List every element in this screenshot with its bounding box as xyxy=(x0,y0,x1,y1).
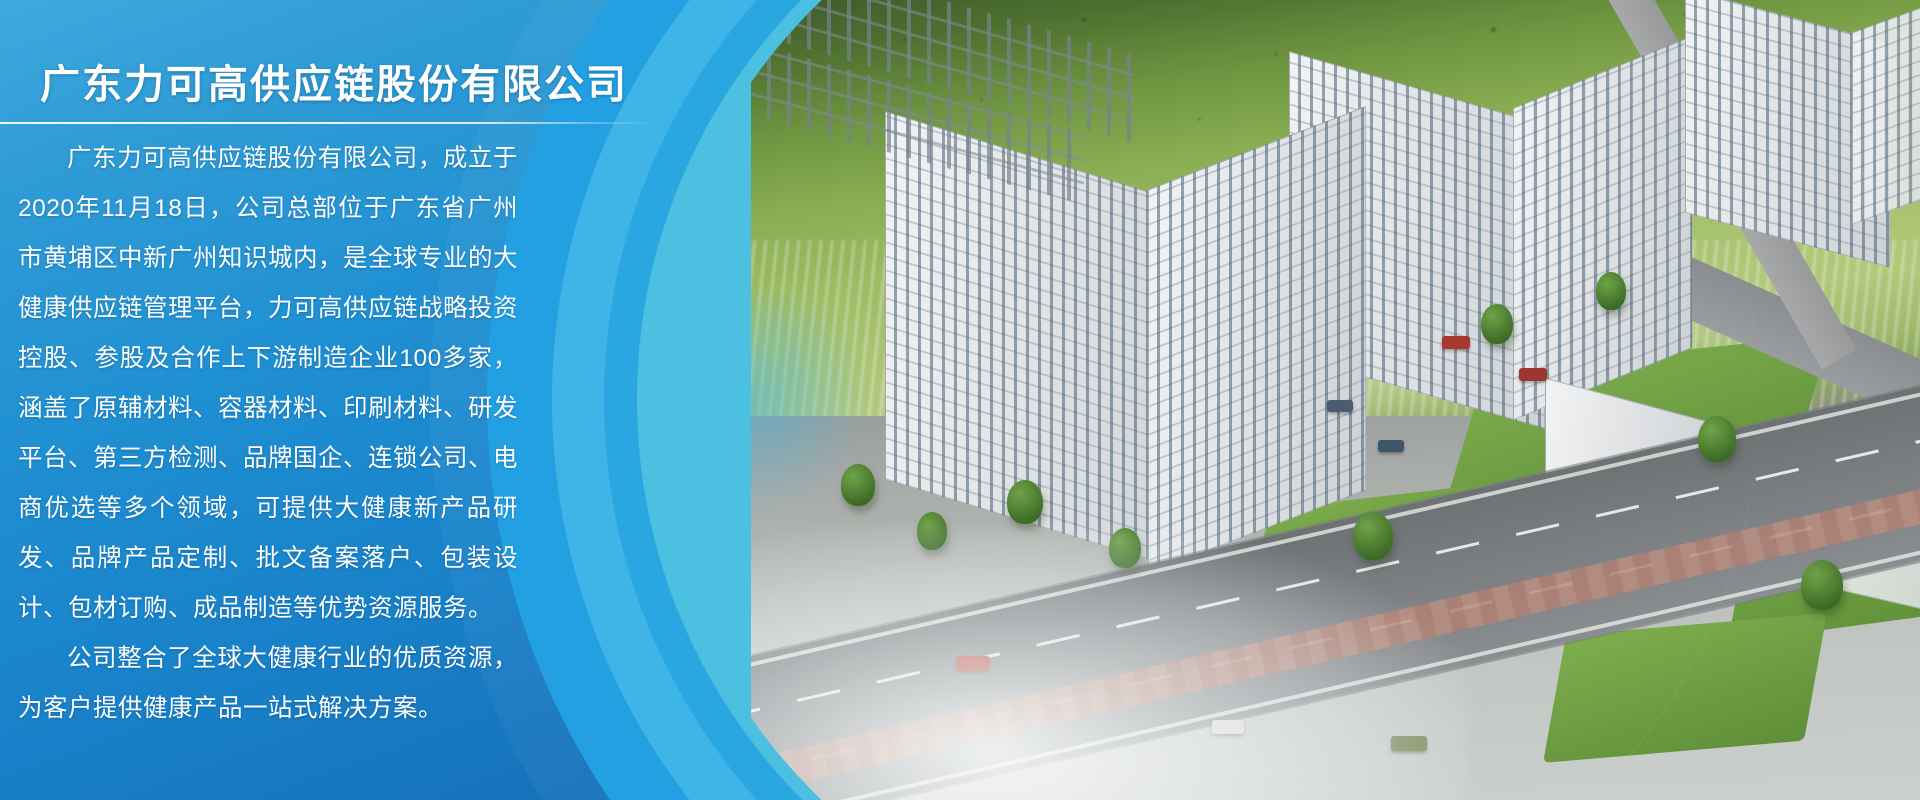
tree xyxy=(1801,560,1843,610)
car xyxy=(1327,400,1353,412)
car xyxy=(1519,368,1547,381)
title-divider xyxy=(0,122,658,124)
text-column: 广东力可高供应链股份有限公司 广东力可高供应链股份有限公司，成立于2020年11… xyxy=(0,0,700,800)
tree xyxy=(1481,304,1513,344)
car xyxy=(1442,336,1470,349)
atmospheric-haze xyxy=(751,528,1468,800)
tree xyxy=(1698,416,1736,462)
paragraph: 公司整合了全球大健康行业的优质资源，为客户提供健康产品一站式解决方案。 xyxy=(18,634,518,734)
page-title: 广东力可高供应链股份有限公司 xyxy=(40,52,628,110)
tree xyxy=(1007,480,1043,524)
tree xyxy=(1596,272,1626,310)
photo-disc xyxy=(651,0,1759,800)
company-profile-banner: 广东力可高供应链股份有限公司 广东力可高供应链股份有限公司，成立于2020年11… xyxy=(0,0,1920,800)
paragraph: 广东力可高供应链股份有限公司，成立于2020年11月18日，公司总部位于广东省广… xyxy=(18,134,518,634)
company-description: 广东力可高供应链股份有限公司，成立于2020年11月18日，公司总部位于广东省广… xyxy=(18,134,518,734)
car xyxy=(1378,440,1404,452)
industrial-park-photo xyxy=(751,0,1759,800)
tree xyxy=(841,464,875,506)
factory-building xyxy=(1852,0,1920,225)
